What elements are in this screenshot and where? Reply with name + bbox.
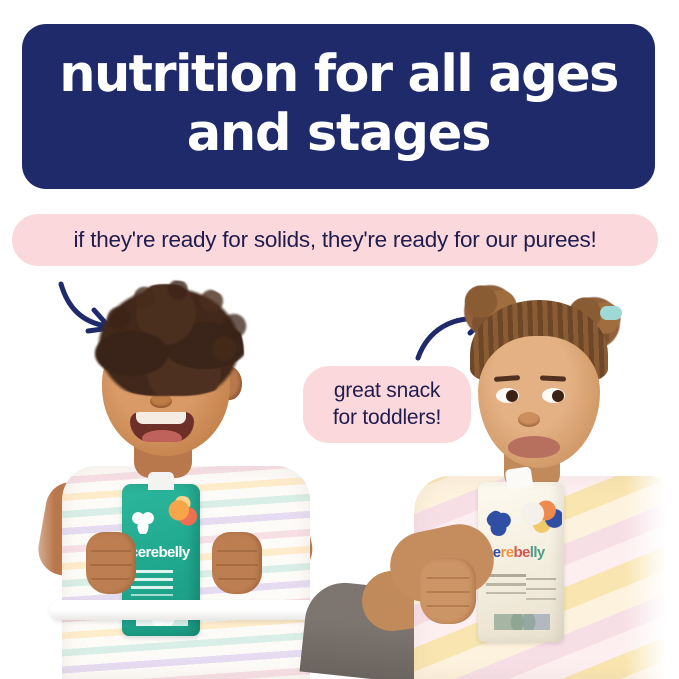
- right-child-figure: cerebelly: [396, 270, 679, 679]
- left-child-hand-left: [86, 532, 136, 594]
- pouch-certification-seals: [494, 614, 550, 630]
- left-child-tongue: [142, 430, 182, 442]
- right-child-face: [478, 336, 600, 468]
- left-child-hand-right: [212, 532, 262, 594]
- right-child-eye-right: [542, 388, 565, 403]
- right-child-mouth: [508, 436, 560, 458]
- headline-line-2: and stages: [187, 105, 491, 163]
- right-child-nose: [518, 412, 540, 427]
- right-child-hand: [420, 558, 476, 624]
- right-child-eye-left: [496, 388, 519, 403]
- headline-banner: nutrition for all ages and stages: [22, 24, 655, 189]
- right-child-brow-right: [540, 375, 566, 381]
- pouch-brand-text: cerebelly: [130, 544, 190, 561]
- cerebelly-brain-icon: [486, 510, 512, 536]
- solids-callout-pill: if they're ready for solids, they're rea…: [12, 214, 658, 266]
- toddler-callout-pill: great snack for toddlers!: [303, 366, 471, 443]
- headline-line-1: nutrition for all ages: [59, 46, 618, 104]
- product-lifestyle-banner: nutrition for all ages and stages if the…: [0, 0, 679, 679]
- right-child-brow-left: [494, 375, 520, 382]
- lifestyle-photo: cerebelly: [0, 270, 679, 679]
- left-child-hair: [94, 284, 244, 396]
- left-child-nose: [150, 394, 172, 408]
- pouch-description-lines: [131, 570, 173, 602]
- left-child-teeth: [136, 412, 186, 424]
- toddler-callout-line-1: great snack: [334, 378, 440, 405]
- right-child-hair-tie: [600, 306, 622, 320]
- solids-callout-text: if they're ready for solids, they're rea…: [73, 229, 596, 252]
- toddler-callout-line-2: for toddlers!: [333, 405, 441, 432]
- pouch-fruit-art: [520, 496, 562, 536]
- left-child-mouth: [130, 412, 194, 442]
- cerebelly-leaf-icon: [132, 510, 154, 534]
- high-chair-tray: [50, 600, 322, 620]
- left-child-figure: cerebelly: [56, 270, 316, 679]
- right-child-pupil-left: [506, 390, 518, 402]
- pouch-fruit-art: [166, 496, 198, 530]
- pouch-description-lines: [486, 574, 526, 604]
- right-child-pupil-right: [552, 390, 564, 402]
